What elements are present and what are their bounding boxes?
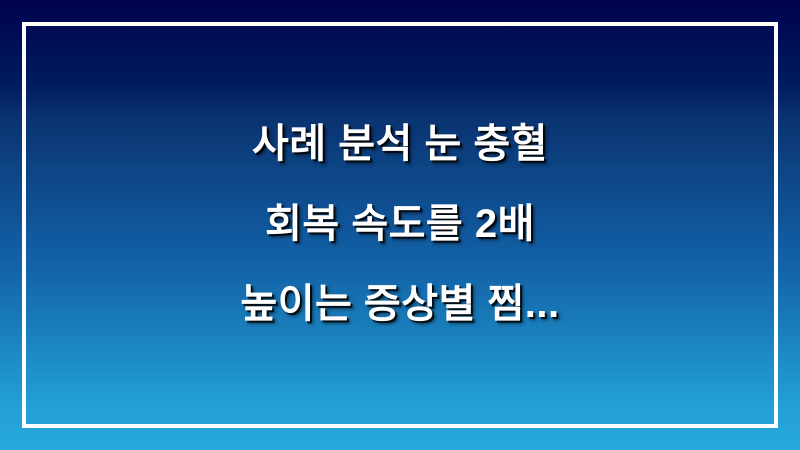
title-line-3: 높이는 증상별 찜... xyxy=(0,264,800,344)
slide-canvas: 사례 분석 눈 충혈 회복 속도를 2배 높이는 증상별 찜... xyxy=(0,0,800,450)
title-block: 사례 분석 눈 충혈 회복 속도를 2배 높이는 증상별 찜... xyxy=(0,104,800,344)
title-line-1: 사례 분석 눈 충혈 xyxy=(0,104,800,184)
title-line-2: 회복 속도를 2배 xyxy=(0,184,800,264)
